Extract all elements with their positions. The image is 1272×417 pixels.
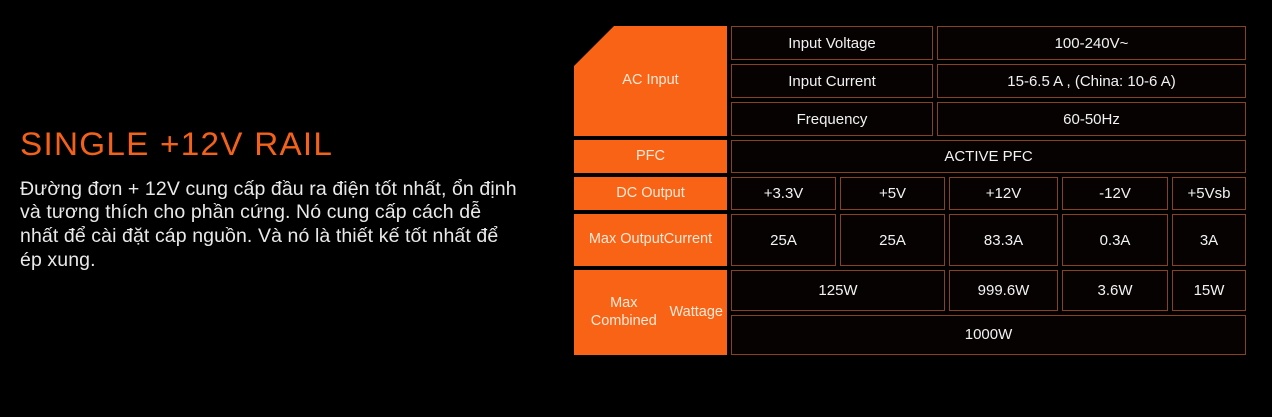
- row-label-line-1: Max Combined: [578, 295, 670, 330]
- cell-wattage-999w: 999.6W: [949, 270, 1058, 311]
- table-row-pfc: PFC ACTIVE PFC: [574, 140, 1246, 173]
- cell-current-5v: 25A: [840, 214, 945, 266]
- wattage-total-row: 1000W: [731, 315, 1246, 356]
- promo-block: SINGLE +12V RAIL Đường đơn + 12V cung cấ…: [20, 128, 540, 273]
- wattage-breakdown-row: 125W 999.6W 3.6W 15W: [731, 270, 1246, 311]
- row-label-line-1: Max Output: [589, 231, 664, 249]
- page-title: SINGLE +12V RAIL: [20, 128, 561, 162]
- cell-rail-3v3: +3.3V: [731, 177, 836, 210]
- row-label-line-2: Current: [664, 231, 712, 249]
- table-row-dc-output: DC Output +3.3V +5V +12V -12V +5Vsb: [574, 177, 1246, 210]
- ac-input-values-group: Input Voltage 100-240V~ Input Current 15…: [731, 26, 1246, 136]
- row-label-max-combined-wattage: Max Combined Wattage: [574, 270, 727, 355]
- table-row-max-output-current: Max Output Current 25A 25A 83.3A 0.3A 3A: [574, 214, 1246, 266]
- promo-description: Đường đơn + 12V cung cấp đầu ra điện tốt…: [20, 178, 520, 273]
- table-row-frequency: Frequency 60-50Hz: [731, 102, 1246, 136]
- table-row-input-voltage: Input Voltage 100-240V~: [731, 26, 1246, 60]
- cell-rail-5v: +5V: [840, 177, 945, 210]
- cell-rail-12v: +12V: [949, 177, 1058, 210]
- cell-wattage-125w: 125W: [731, 270, 945, 311]
- table-row-max-combined-wattage: Max Combined Wattage 125W 999.6W 3.6W 15…: [574, 270, 1246, 355]
- cell-input-current-value: 15-6.5 A , (China: 10-6 A): [937, 64, 1246, 98]
- cell-current-3v3: 25A: [731, 214, 836, 266]
- cell-frequency-label: Frequency: [731, 102, 933, 136]
- cell-wattage-15w: 15W: [1172, 270, 1246, 311]
- cell-rail-5vsb: +5Vsb: [1172, 177, 1246, 210]
- cell-wattage-3w: 3.6W: [1062, 270, 1168, 311]
- cell-wattage-total: 1000W: [731, 315, 1246, 356]
- row-label-max-output-current: Max Output Current: [574, 214, 727, 266]
- row-label-dc-output: DC Output: [574, 177, 727, 210]
- cell-rail-minus-12v: -12V: [1062, 177, 1168, 210]
- cell-frequency-value: 60-50Hz: [937, 102, 1246, 136]
- row-label-ac-input: AC Input: [574, 26, 727, 136]
- table-row-ac-input: AC Input Input Voltage 100-240V~ Input C…: [574, 26, 1246, 136]
- cell-input-current-label: Input Current: [731, 64, 933, 98]
- specification-table: AC Input Input Voltage 100-240V~ Input C…: [574, 26, 1246, 348]
- cell-input-voltage-label: Input Voltage: [731, 26, 933, 60]
- cell-input-voltage-value: 100-240V~: [937, 26, 1246, 60]
- table-row-input-current: Input Current 15-6.5 A , (China: 10-6 A): [731, 64, 1246, 98]
- wattage-values-group: 125W 999.6W 3.6W 15W 1000W: [731, 270, 1246, 355]
- cell-current-5vsb: 3A: [1172, 214, 1246, 266]
- row-label-line-2: Wattage: [670, 304, 723, 322]
- row-label-pfc: PFC: [574, 140, 727, 173]
- cell-current-minus-12v: 0.3A: [1062, 214, 1168, 266]
- cell-current-12v: 83.3A: [949, 214, 1058, 266]
- cell-pfc-value: ACTIVE PFC: [731, 140, 1246, 173]
